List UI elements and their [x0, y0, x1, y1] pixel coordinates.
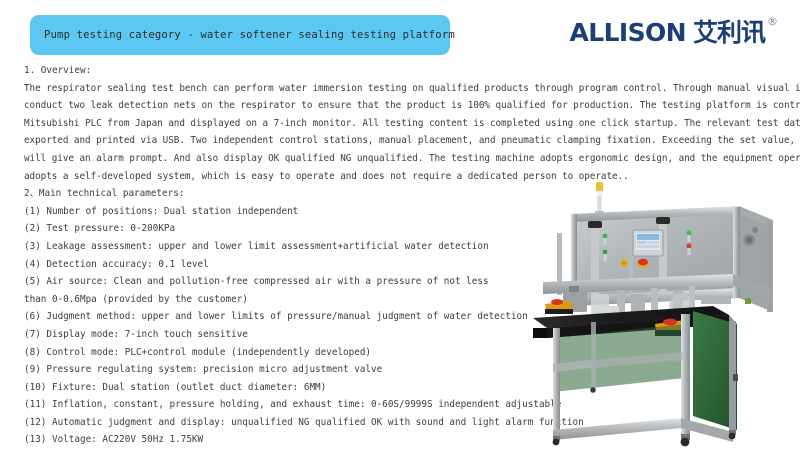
parameter-item: than 0-0.6Mpa (provided by the customer)	[0, 291, 560, 309]
parameter-item: (8) Control mode: PLC+control module (in…	[0, 344, 560, 362]
registered-trademark-icon: ®	[767, 16, 778, 27]
parameter-item: (9) Pressure regulating system: precisio…	[0, 361, 560, 379]
parameter-item: (13) Voltage: AC220V 50Hz 1.75KW	[0, 431, 560, 449]
overview-line: Mitsubishi PLC from Japan and displayed …	[0, 115, 800, 133]
overview-heading: 1. Overview:	[0, 62, 800, 80]
parameter-item: (3) Leakage assessment: upper and lower …	[0, 238, 560, 256]
signal-tower-icon	[595, 182, 604, 214]
parameter-item: (5) Air source: Clean and pollution-free…	[0, 273, 560, 291]
company-logo: ALLISON 艾利讯 ®	[569, 20, 778, 45]
title-banner: Pump testing category - water softener s…	[30, 15, 450, 55]
parameter-item: (10) Fixture: Dual station (outlet duct …	[0, 379, 560, 397]
page-header: Pump testing category - water softener s…	[0, 0, 800, 62]
control-knob	[620, 259, 628, 267]
parameter-item: (7) Display mode: 7-inch touch sensitive	[0, 326, 560, 344]
overview-line: exported and printed via USB. Two indepe…	[0, 132, 800, 150]
parameter-item: (6) Judgment method: upper and lower lim…	[0, 308, 560, 326]
overview-line: conduct two leak detection nets on the r…	[0, 97, 800, 115]
parameter-item: (11) Inflation, constant, pressure holdi…	[0, 396, 560, 414]
brand-name-cjk: 艾利讯	[693, 20, 765, 45]
parameter-item: (1) Number of positions: Dual station in…	[0, 203, 560, 221]
page-title: Pump testing category - water softener s…	[30, 29, 455, 41]
parameter-item: (4) Detection accuracy: 0.1 level	[0, 256, 560, 274]
parameter-item: (2) Test pressure: 0-200KPa	[0, 220, 560, 238]
parameter-item: (12) Automatic judgment and display: unq…	[0, 414, 560, 432]
product-photo	[533, 178, 800, 450]
hmi-touch-screen	[633, 230, 663, 256]
overview-line: The respirator sealing test bench can pe…	[0, 80, 800, 98]
brand-name-latin: ALLISON	[569, 20, 686, 45]
overview-line: will give an alarm prompt. And also disp…	[0, 150, 800, 168]
